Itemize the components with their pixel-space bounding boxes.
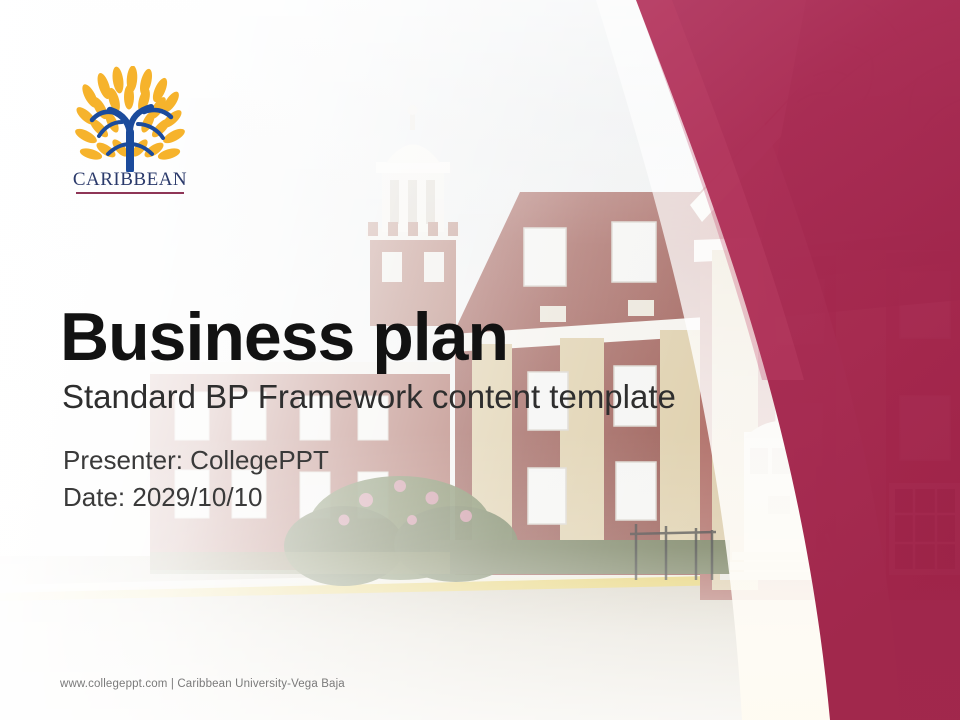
slide-footer: www.collegeppt.com | Caribbean Universit…: [60, 678, 345, 690]
presenter-meta-block: Presenter: CollegePPT Date: 2029/10/10: [63, 442, 329, 516]
title-slide: CARIBBEAN Business plan Standard BP Fram…: [0, 0, 960, 720]
caribbean-university-logo: CARIBBEAN: [72, 66, 188, 198]
logo-underline-rule: [76, 192, 184, 194]
slide-title: Business plan: [60, 302, 508, 373]
tree-logo-icon: [72, 66, 188, 172]
logo-wordmark: CARIBBEAN: [72, 170, 188, 189]
slide-content: CARIBBEAN Business plan Standard BP Fram…: [0, 0, 960, 720]
presenter-line: Presenter: CollegePPT: [63, 442, 329, 479]
slide-subtitle: Standard BP Framework content template: [62, 379, 676, 415]
date-line: Date: 2029/10/10: [63, 479, 329, 516]
